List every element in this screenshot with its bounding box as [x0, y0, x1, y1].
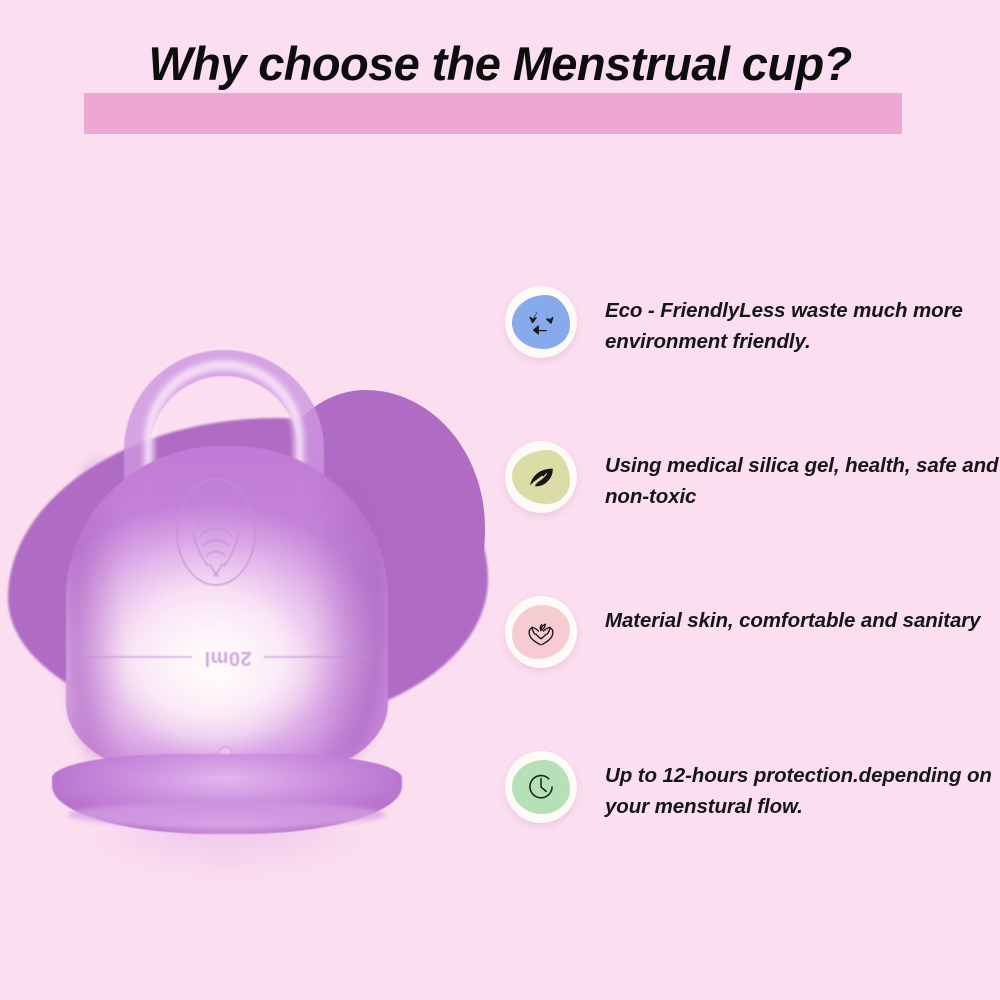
volume-label: 20ml [204, 646, 252, 669]
marking-line-right [264, 656, 368, 658]
clock-icon [505, 751, 577, 823]
cup-body-glow [122, 600, 312, 750]
cup-surface-reflection [82, 820, 372, 876]
feature-item-protection-duration: Up to 12-hours protection.depending on y… [505, 747, 1000, 902]
fingerprint-texture-icon [174, 476, 258, 588]
marking-line-left [88, 656, 192, 658]
feature-list: Eco - FriendlyLess waste much more envir… [505, 282, 1000, 902]
hands-holding-leaf-icon [505, 596, 577, 668]
feature-item-medical-silica-gel: Using medical silica gel, health, safe a… [505, 437, 1000, 592]
title-text: Why choose the Menstrual cup? [0, 36, 1000, 91]
leaf-icon [505, 441, 577, 513]
feature-text: Material skin, comfortable and sanitary [605, 606, 1000, 637]
feature-icon-badge [505, 441, 577, 513]
product-illustration: 20ml [0, 330, 500, 870]
page-title: Why choose the Menstrual cup? [0, 36, 1000, 116]
feature-item-eco-friendly: Eco - FriendlyLess waste much more envir… [505, 282, 1000, 437]
feature-text: Up to 12-hours protection.depending on y… [605, 761, 1000, 823]
recycle-icon [505, 286, 577, 358]
promo-page: Why choose the Menstrual cup? [0, 0, 1000, 1000]
feature-text: Eco - FriendlyLess waste much more envir… [605, 296, 1000, 358]
feature-item-material-skin: Material skin, comfortable and sanitary [505, 592, 1000, 747]
feature-icon-badge [505, 751, 577, 823]
feature-icon-badge [505, 596, 577, 668]
feature-text: Using medical silica gel, health, safe a… [605, 451, 1000, 513]
title-highlight-bar [84, 93, 902, 134]
feature-icon-badge [505, 286, 577, 358]
menstrual-cup-graphic: 20ml [52, 350, 402, 850]
volume-marking: 20ml [88, 642, 368, 672]
